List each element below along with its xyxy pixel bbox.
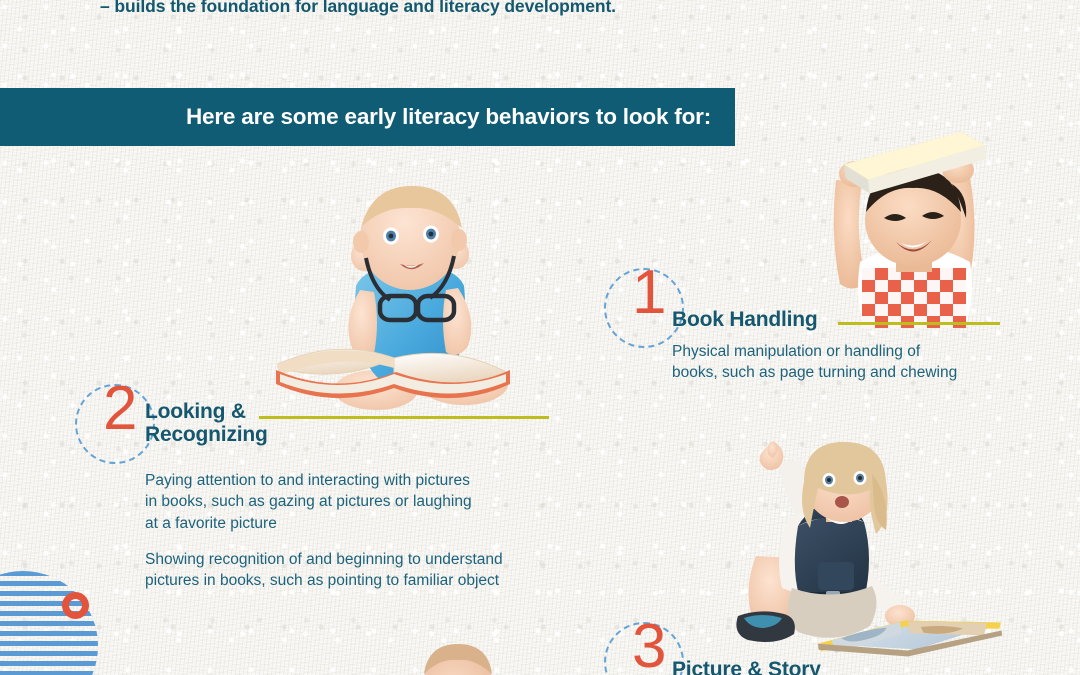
item-number-1: 1 bbox=[632, 262, 666, 324]
infographic-page: – builds the foundation for language and… bbox=[0, 0, 1080, 675]
item-title-2: Looking & Recognizing bbox=[145, 400, 268, 446]
item-title-rule-2 bbox=[259, 416, 549, 419]
photo-baby-head-partial-bottom bbox=[398, 634, 518, 675]
blue-striped-quarter-circle-decoration bbox=[0, 571, 98, 675]
item-title-3: Picture & Story bbox=[672, 658, 821, 675]
item-number-2: 2 bbox=[103, 378, 137, 440]
item-body-2b: Showing recognition of and beginning to … bbox=[145, 549, 575, 592]
photo-baby-with-glasses-and-open-book bbox=[268, 178, 520, 423]
intro-sentence: – builds the foundation for language and… bbox=[100, 0, 1000, 17]
orange-ring-decoration bbox=[62, 592, 89, 619]
item-body-1: Physical manipulation or handling of boo… bbox=[672, 341, 1002, 384]
item-title-rule-1 bbox=[838, 322, 1000, 325]
photo-toddler-holding-yellow-book-on-head bbox=[800, 128, 1030, 328]
section-banner: Here are some early literacy behaviors t… bbox=[0, 88, 735, 146]
section-banner-label: Here are some early literacy behaviors t… bbox=[186, 104, 711, 130]
item-body-2a: Paying attention to and interacting with… bbox=[145, 470, 555, 534]
item-title-1: Book Handling bbox=[672, 308, 818, 331]
item-number-3: 3 bbox=[632, 616, 666, 675]
photo-girl-pointing-up-beside-picture-book bbox=[722, 440, 1012, 662]
